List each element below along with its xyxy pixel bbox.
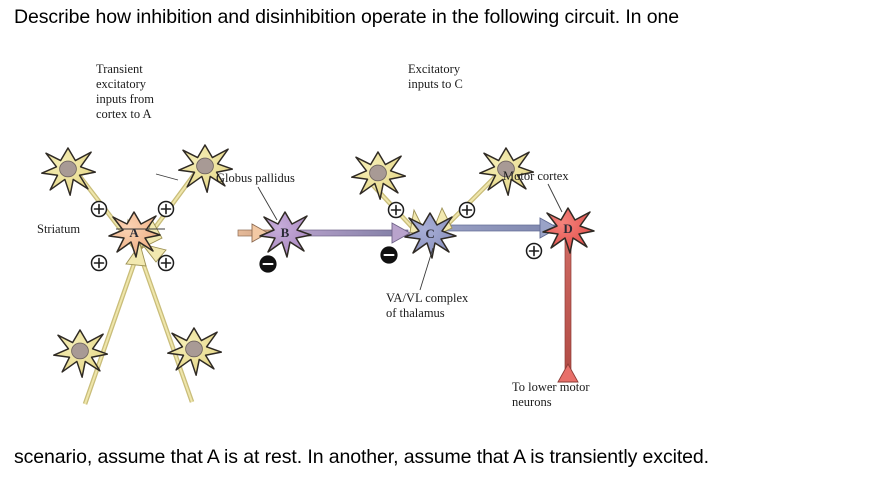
plus-sign-a-upper-left (92, 202, 107, 217)
label-excitatory-inputs-to-c-line2: inputs to C (408, 77, 463, 91)
input-neuron-cortex-in-1 (42, 148, 96, 195)
plus-sign-d (527, 244, 542, 259)
neural-circuit-diagram: A B C D (0, 52, 888, 438)
label-to-lower-motor-neurons-line2: neurons (512, 395, 552, 409)
label-va-vl-complex-line1: VA/VL complex (386, 291, 469, 305)
neuron-a-letter: A (129, 225, 139, 240)
plus-sign-a-upper-right (159, 202, 174, 217)
leader-va-vl (420, 248, 433, 290)
neuron-d-motor-cortex[interactable]: D (543, 208, 594, 253)
label-globus-pallidus: Globus pallidus (216, 171, 295, 185)
minus-sign-c (381, 247, 397, 263)
leader-motor-cortex (548, 184, 562, 212)
label-motor-cortex: Motor cortex (503, 169, 569, 183)
question-text-line-2: scenario, assume that A is at rest. In a… (14, 446, 884, 469)
minus-sign-b (260, 256, 276, 272)
neuron-d-letter: D (563, 221, 572, 236)
neuron-b-letter: B (281, 225, 290, 240)
label-va-vl-complex-line2: of thalamus (386, 306, 445, 320)
axon-b-to-c (300, 223, 410, 243)
plus-sign-c-right (460, 203, 475, 218)
label-transient-excitatory-line4: cortex to A (96, 107, 152, 121)
label-transient-excitatory-line3: inputs from (96, 92, 154, 106)
axon-d-to-lower-motor-neurons (558, 238, 578, 382)
input-neuron-cortex-in-5 (352, 152, 406, 199)
plus-sign-a-lower-left (92, 256, 107, 271)
question-text-line-1: Describe how inhibition and disinhibitio… (14, 6, 884, 29)
input-neuron-cortex-in-3 (54, 330, 108, 377)
label-to-lower-motor-neurons-line1: To lower motor (512, 380, 590, 394)
neuron-b-globus-pallidus[interactable]: B (260, 212, 311, 257)
neuron-c-thalamus[interactable]: C (405, 213, 456, 258)
plus-sign-c-left (389, 203, 404, 218)
neuron-a-striatum[interactable]: A (109, 212, 160, 257)
screenshot-root: Describe how inhibition and disinhibitio… (0, 0, 888, 485)
plus-sign-a-lower-right (159, 256, 174, 271)
input-neuron-cortex-in-4 (168, 328, 222, 375)
label-excitatory-inputs-to-c-line1: Excitatory (408, 62, 461, 76)
label-striatum: Striatum (37, 222, 80, 236)
leader-globus-pallidus (258, 187, 277, 220)
label-transient-excitatory-line2: excitatory (96, 77, 147, 91)
neuron-c-letter: C (425, 226, 434, 241)
leader-transient-excitatory (156, 174, 178, 180)
label-transient-excitatory-line1: Transient (96, 62, 143, 76)
